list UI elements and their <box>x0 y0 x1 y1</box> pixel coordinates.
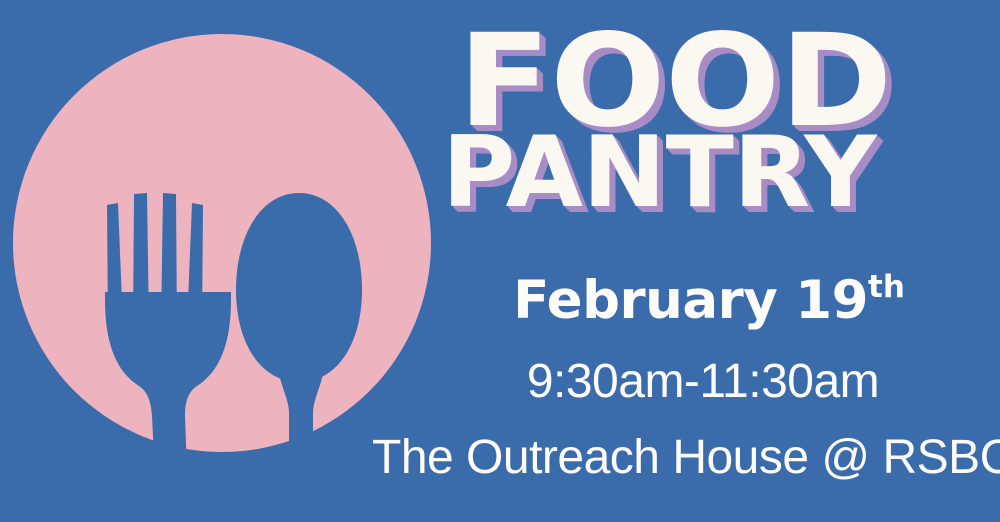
event-location: The Outreach House @ RSBC <box>360 434 1000 482</box>
event-date: February 19th <box>360 272 1000 327</box>
headline-block: FOOD PANTRY <box>430 18 990 238</box>
event-date-text: February 19 <box>513 270 868 331</box>
event-details-block: February 19th 9:30am-11:30am The Outreac… <box>360 272 1000 482</box>
flyer-canvas: FOOD PANTRY February 19th 9:30am-11:30am… <box>0 0 1000 522</box>
event-date-ordinal: th <box>868 269 905 305</box>
headline-line-pantry: PANTRY <box>442 124 876 222</box>
event-time: 9:30am-11:30am <box>360 358 1000 406</box>
